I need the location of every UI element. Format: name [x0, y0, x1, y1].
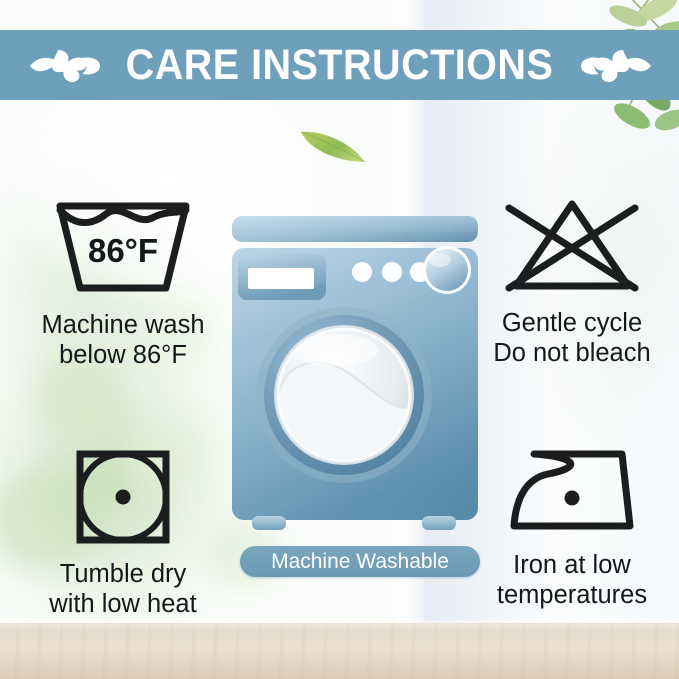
floating-leaf-icon: [297, 122, 369, 168]
iron-caption-line1: Iron at low: [466, 550, 678, 580]
bleach-caption-line2: Do not bleach: [466, 338, 678, 368]
wash-caption: Machine wash below 86°F: [18, 310, 228, 370]
iron-heat-dot: [565, 491, 580, 506]
washing-machine-illustration: [224, 210, 486, 550]
detergent-drawer: [238, 254, 326, 300]
iron-icon: [504, 448, 640, 540]
tumble-dry-icon: [71, 445, 175, 549]
dry-heat-dot: [116, 490, 131, 505]
bleach-caption: Gentle cycle Do not bleach: [466, 308, 678, 368]
control-knob: [423, 246, 471, 294]
control-dot-1: [352, 262, 372, 282]
wash-caption-line1: Machine wash: [18, 310, 228, 340]
care-symbol-machine-wash: 86°F Machine wash below 86°F: [18, 196, 228, 370]
wash-temperature-label: 86°F: [88, 232, 158, 269]
care-symbol-do-not-bleach: Gentle cycle Do not bleach: [466, 196, 678, 368]
machine-foot-left: [252, 516, 286, 530]
porthole-door: [256, 307, 432, 483]
dry-caption-line1: Tumble dry: [18, 559, 228, 589]
table-grain: [0, 623, 679, 679]
bleach-caption-line1: Gentle cycle: [466, 308, 678, 338]
page-title: CARE INSTRUCTIONS: [27, 30, 652, 100]
machine-washable-badge: Machine Washable: [240, 546, 480, 577]
control-dot-2: [382, 262, 402, 282]
care-instructions-infographic: CARE INSTRUCTIONS 86°F Machine wash belo…: [0, 0, 679, 679]
machine-foot-right: [422, 516, 456, 530]
machine-lid: [232, 216, 478, 242]
dry-caption: Tumble dry with low heat: [18, 559, 228, 619]
care-symbol-tumble-dry: Tumble dry with low heat: [18, 445, 228, 619]
iron-caption-line2: temperatures: [466, 580, 678, 610]
wash-tub-icon: 86°F: [48, 196, 198, 298]
iron-caption: Iron at low temperatures: [466, 550, 678, 610]
triangle-crossed-icon: [497, 196, 647, 296]
dry-caption-line2: with low heat: [18, 589, 228, 619]
care-symbol-iron: Iron at low temperatures: [466, 448, 678, 610]
wash-caption-line2: below 86°F: [18, 340, 228, 370]
